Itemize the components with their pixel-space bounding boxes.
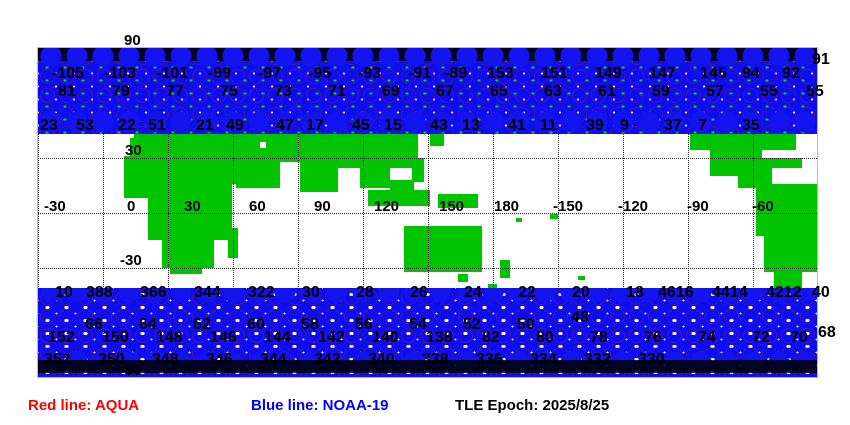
pass-number: 15 — [384, 118, 402, 134]
pass-number: 60 — [247, 317, 265, 333]
pass-number: 62 — [193, 317, 211, 333]
pass-number: 7 — [698, 118, 707, 134]
pass-number: 4616 — [658, 285, 694, 301]
lat-label-90: 90 — [124, 33, 141, 48]
pass-number: 147 — [649, 66, 676, 82]
pass-number: 77 — [166, 84, 184, 100]
land-south-africa-tip — [170, 256, 202, 274]
pass-number: 51 — [148, 118, 166, 134]
pass-number: 23 — [40, 118, 58, 134]
pass-number: 17 — [306, 118, 324, 134]
pass-number: 79 — [112, 84, 130, 100]
pass-number: 140 — [372, 330, 399, 346]
pass-number: 49 — [226, 118, 244, 134]
pass-number: 59 — [652, 84, 670, 100]
pass-number: 338 — [422, 352, 449, 368]
pass-number: 10 — [55, 285, 73, 301]
lon-label--60: -60 — [752, 199, 774, 214]
pass-number: 336 — [476, 352, 503, 368]
pass-number: 334 — [530, 352, 557, 368]
pass-number: 24 — [464, 285, 482, 301]
pass-number: 22 — [518, 285, 536, 301]
land-philippines — [412, 158, 424, 182]
lon-label-150: 150 — [439, 199, 464, 214]
pass-number: 70 — [790, 330, 808, 346]
lon-label--90: -90 — [687, 199, 709, 214]
pass-number: 69 — [382, 84, 400, 100]
pass-number: 144 — [264, 330, 291, 346]
pass-number: 153 — [487, 66, 514, 82]
pass-number: 39 — [586, 118, 604, 134]
pass-number: 22 — [118, 118, 136, 134]
pass-number: 30 — [302, 285, 320, 301]
pass-number: 56 — [355, 317, 373, 333]
lon-label-90: 90 — [314, 199, 331, 214]
pass-number: -89 — [444, 66, 467, 82]
pass-number: 80 — [536, 330, 554, 346]
pass-number: 352 — [44, 352, 71, 368]
pass-number: 18 — [626, 285, 644, 301]
pass-number: 58 — [301, 317, 319, 333]
pass-number: 63 — [544, 84, 562, 100]
pass-number: 74 — [698, 330, 716, 346]
pass-number: 81 — [58, 84, 76, 100]
land-caribbean — [760, 158, 802, 168]
lon-label-30: 30 — [184, 199, 201, 214]
pass-number: 346 — [206, 352, 233, 368]
pass-number: 344 — [260, 352, 287, 368]
pass-number: 65 — [490, 84, 508, 100]
pass-number: 68 — [818, 325, 836, 341]
pass-number: -103 — [104, 66, 136, 82]
lon-label--120: -120 — [618, 199, 648, 214]
lon-label--30: -30 — [44, 199, 66, 214]
pass-number: -95 — [308, 66, 331, 82]
land-southeast-asia — [360, 160, 390, 188]
pass-number: 67 — [436, 84, 454, 100]
pass-number: 148 — [156, 330, 183, 346]
pass-number: 4414 — [712, 285, 748, 301]
pass-number: 75 — [220, 84, 238, 100]
pass-number: 72 — [752, 330, 770, 346]
pass-number: 66 — [85, 317, 103, 333]
pass-number: 142 — [318, 330, 345, 346]
legend-noaa: Blue line: NOAA-19 — [251, 398, 389, 413]
pass-number: 20 — [572, 285, 590, 301]
pass-number: 76 — [644, 330, 662, 346]
land-tasmania — [458, 274, 468, 282]
gridline-lat — [38, 268, 817, 269]
pass-number: 73 — [274, 84, 292, 100]
pass-number: 48 — [571, 310, 589, 326]
land-new-zealand — [500, 260, 510, 278]
pass-number: -93 — [358, 66, 381, 82]
pass-number: 54 — [409, 317, 427, 333]
pass-number: 348 — [152, 352, 179, 368]
pass-number: 322 — [248, 285, 275, 301]
pass-number: 26 — [410, 285, 428, 301]
pass-number: 146 — [210, 330, 237, 346]
land-pacific-islands-c — [578, 276, 585, 280]
gridline-lat — [38, 377, 817, 378]
pass-number: 149 — [595, 66, 622, 82]
pass-number: 344 — [194, 285, 221, 301]
pass-number: 4212 — [766, 285, 802, 301]
pass-number: 151 — [541, 66, 568, 82]
pass-number: 11 — [540, 118, 557, 134]
pass-number: 50 — [517, 317, 535, 333]
pass-number: -101 — [156, 66, 188, 82]
pass-number: 55 — [806, 84, 824, 100]
land-pacific-islands-a — [516, 218, 522, 222]
land-australia — [404, 226, 482, 272]
pass-number: 40 — [812, 285, 830, 301]
pass-number: 145 — [700, 66, 727, 82]
pass-number: 28 — [356, 285, 374, 301]
land-borneo — [390, 180, 414, 200]
pass-number: 82 — [482, 330, 500, 346]
satellite-ground-track-figure: 90 30 -30 -90 -30 0 30 60 90 120 150 180… — [0, 0, 850, 425]
pass-number: 35 — [742, 118, 760, 134]
pass-number: 61 — [598, 84, 616, 100]
gridline-lat — [38, 158, 817, 159]
pass-number: 94 — [742, 66, 760, 82]
lon-label-0: 0 — [127, 199, 135, 214]
pass-number: 37 — [664, 118, 682, 134]
pass-number: 92 — [782, 66, 800, 82]
pass-number: 330 — [638, 352, 665, 368]
pass-number: 21 — [196, 118, 214, 134]
pass-number: 91 — [812, 52, 830, 68]
pass-number: 13 — [462, 118, 480, 134]
pass-number: -99 — [208, 66, 231, 82]
pass-number: 57 — [706, 84, 724, 100]
pass-number: 43 — [430, 118, 448, 134]
pass-number: -91 — [408, 66, 431, 82]
legend: Red line: AQUA Blue line: NOAA-19 TLE Ep… — [0, 396, 850, 420]
legend-tle-epoch: TLE Epoch: 2025/8/25 — [455, 398, 609, 413]
pass-number: 342 — [314, 352, 341, 368]
pass-number: -97 — [258, 66, 281, 82]
pass-number: 388 — [86, 285, 113, 301]
pass-number: 45 — [352, 118, 370, 134]
pass-number: 78 — [590, 330, 608, 346]
pass-number: 52 — [463, 317, 481, 333]
pass-number: 41 — [508, 118, 526, 134]
lat-label-s30: -30 — [120, 253, 142, 268]
pass-number: 340 — [368, 352, 395, 368]
pass-number: -105 — [52, 66, 84, 82]
lon-label-180: 180 — [494, 199, 519, 214]
lat-label-n30: 30 — [125, 143, 142, 158]
pass-number: 366 — [140, 285, 167, 301]
pass-number: 55 — [760, 84, 778, 100]
pass-number: 71 — [328, 84, 346, 100]
pass-number: 9 — [620, 118, 629, 134]
pass-number: 332 — [584, 352, 611, 368]
pass-number: 350 — [98, 352, 125, 368]
pass-number: 138 — [426, 330, 453, 346]
pass-number: 150 — [102, 330, 129, 346]
legend-aqua: Red line: AQUA — [28, 398, 139, 413]
pass-number: 64 — [139, 317, 157, 333]
lon-label-120: 120 — [374, 199, 399, 214]
pass-number: 47 — [276, 118, 294, 134]
lon-label-60: 60 — [249, 199, 266, 214]
pass-number: 53 — [76, 118, 94, 134]
lon-label--150: -150 — [553, 199, 583, 214]
pass-number: 152 — [48, 330, 75, 346]
